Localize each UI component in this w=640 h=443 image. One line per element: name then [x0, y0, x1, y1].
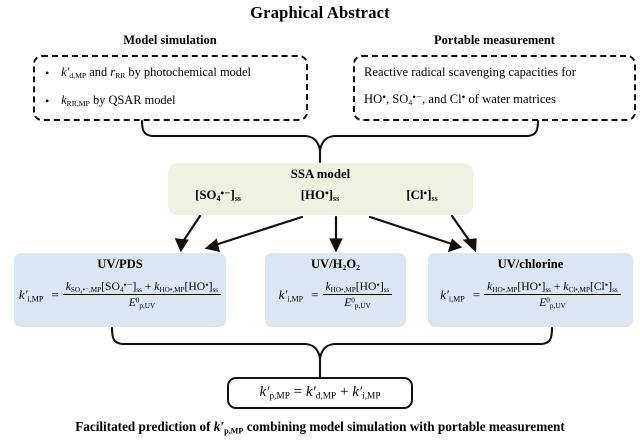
page-title: Graphical Abstract [0, 3, 640, 23]
equals-uv-h2o2: = [311, 287, 318, 303]
bullet-1-mid: and [86, 65, 110, 79]
ssa-so4-formula: SO [199, 188, 216, 202]
portable-line-2: HO•, SO4•−, and Cl• of water matrices [364, 92, 628, 107]
ssa-species-so4: [SO4•−]ss [170, 188, 266, 203]
fraction-uv-chlorine: kHO•,MP[HO•]ss + kCl•,MP[Cl•]ss E0p,UV [484, 280, 621, 309]
portable-line-2-tail: of water matrices [465, 92, 556, 106]
title-mid-h2o2: O [346, 257, 356, 271]
num-st1-cl: ss [545, 286, 551, 294]
so4-label: SO [392, 92, 408, 106]
process-title-uv-pds: UV/PDS [14, 257, 226, 272]
result-sub-d: d,MP [316, 392, 336, 402]
num-plus-cl: + [554, 280, 561, 293]
list-item: • k′d,MP and rRR by photochemical model [45, 65, 251, 81]
ssa-cl-state: ss [431, 194, 437, 203]
formula-uv-pds: k′i,MP = kSO₄•⁻,MP[SO4•−]ss + kHO•,MP[HO… [14, 280, 226, 309]
num-k2-sub-pds: HO•,MP [159, 286, 184, 294]
result-k3: k [352, 384, 359, 400]
ssa-ho-state: ss [333, 194, 339, 203]
den-E-pds: E [129, 296, 136, 309]
numerator-uv-h2o2: kHO•,MP[HO•]ss [323, 280, 393, 294]
denominator-uv-h2o2: E0p,UV [323, 294, 393, 309]
result-sub-p: p,MP [269, 392, 289, 402]
lhs-sub-cl: i,MP [449, 294, 465, 303]
num-sp1-pds: SO [105, 280, 120, 293]
result-equation: k′p,MP = k′d,MP + k′i,MP [229, 384, 411, 401]
numerator-uv-pds: kSO₄•⁻,MP[SO4•−]ss + kHO•,MP[HO•]ss [63, 280, 221, 294]
num-st2-cl: ss [612, 286, 618, 294]
ssa-to-process-arrows [177, 216, 476, 251]
ssa-ho-formula: HO [305, 188, 325, 202]
lhs-uv-h2o2: k′i,MP [279, 287, 304, 303]
bullet-1-tail: by photochemical model [125, 65, 251, 79]
title-pre-h2o2: UV/H [311, 257, 342, 271]
caption-pre: Facilitated prediction of [75, 419, 214, 434]
denominator-uv-chlorine: E0p,UV [484, 294, 621, 309]
ssa-model-box: SSA model [SO4•−]ss [HO•]ss [Cl•]ss [168, 163, 473, 215]
ssa-species-cl: [Cl•]ss [374, 188, 470, 203]
process-box-uv-chlorine: UV/chlorine k′i,MP = kHO•,MP[HO•]ss + kC… [428, 253, 633, 327]
process-title-uv-h2o2: UV/H2O2 [265, 257, 406, 272]
bullet-2-tail: by QSAR model [90, 93, 176, 107]
denominator-uv-pds: E0p,UV [63, 294, 221, 309]
lhs-uv-chlorine: k′i,MP [440, 287, 465, 303]
ssa-so4-state: ss [235, 194, 241, 203]
num-sp2-cl: Cl [594, 280, 605, 293]
so4-radical-charge: •− [412, 92, 422, 104]
model-simulation-box: • k′d,MP and rRR by photochemical model … [33, 55, 308, 121]
caption-post: combining model simulation with portable… [243, 419, 564, 434]
num-plus-pds: + [145, 280, 152, 293]
bottom-caption: Facilitated prediction of k′p,MP combini… [0, 419, 640, 435]
num-st1-pds: ss [136, 286, 142, 294]
list-item: • kRR,MP by QSAR model [45, 93, 176, 109]
ssa-so4-sup: •− [220, 188, 230, 200]
portable-measurement-box: Reactive radical scavenging capacities f… [353, 55, 636, 121]
result-equals: = [294, 384, 302, 400]
cl-label: Cl [450, 92, 462, 106]
num-k2-sub-cl: Cl•,MP [568, 286, 590, 294]
fraction-uv-h2o2: kHO•,MP[HO•]ss E0p,UV [323, 280, 393, 309]
lhs-uv-pds: k′i,MP [19, 287, 44, 303]
process-box-uv-pds: UV/PDS k′i,MP = kSO₄•⁻,MP[SO4•−]ss + kHO… [14, 253, 226, 327]
numerator-uv-chlorine: kHO•,MP[HO•]ss + kCl•,MP[Cl•]ss [484, 280, 621, 294]
lhs-sub-h2o2: i,MP [287, 294, 303, 303]
num-sp1-h2o2: HO [360, 280, 377, 293]
model-simulation-heading: Model simulation [30, 33, 310, 48]
num-k1-sub-h2o2: HO•,MP [331, 286, 356, 294]
caption-sub: p,MP [224, 426, 243, 435]
ho-label: HO [364, 92, 382, 106]
equals-uv-chlorine: = [473, 287, 480, 303]
ssa-model-title: SSA model [168, 167, 473, 182]
result-sub-i: i,MP [362, 392, 380, 402]
result-plus: + [340, 384, 348, 400]
graphical-abstract-canvas: Graphical Abstract Model simulation Port… [0, 0, 640, 443]
formula-uv-h2o2: k′i,MP = kHO•,MP[HO•]ss E0p,UV [265, 280, 406, 309]
num-st2-pds: ss [212, 286, 218, 294]
result-k2: k [306, 384, 313, 400]
num-sp2-pds: HO [188, 280, 205, 293]
num-sp1-cl: HO [521, 280, 538, 293]
bullet-icon: • [45, 66, 58, 81]
upper-brace [142, 121, 538, 162]
formula-uv-chlorine: k′i,MP = kHO•,MP[HO•]ss + kCl•,MP[Cl•]ss… [428, 280, 633, 309]
ssa-cl-formula: Cl [411, 188, 424, 202]
sep-2: , and [422, 92, 450, 106]
process-title-uv-chlorine: UV/chlorine [428, 257, 633, 272]
num-st1-h2o2: ss [384, 286, 390, 294]
num-k1-sub-pds: SO₄•⁻,MP [71, 286, 101, 294]
bullet-1-sub: d,MP [69, 71, 86, 80]
bullet-icon: • [45, 94, 58, 109]
bullet-1-sub2: RR [115, 71, 125, 80]
portable-measurement-heading: Portable measurement [352, 33, 637, 48]
fraction-uv-pds: kSO₄•⁻,MP[SO4•−]ss + kHO•,MP[HO•]ss E0p,… [63, 280, 221, 309]
title-sub2-h2o2: 2 [356, 263, 360, 272]
bullet-2-sub: RR,MP [67, 99, 90, 108]
den-sub-pds: p,UV [139, 302, 155, 310]
den-sub-cl: p,UV [550, 302, 566, 310]
lower-brace [112, 328, 552, 377]
ssa-species-ho: [HO•]ss [272, 188, 368, 203]
lhs-sub-pds: i,MP [28, 294, 44, 303]
den-sub-h2o2: p,UV [355, 302, 371, 310]
process-box-uv-h2o2: UV/H2O2 k′i,MP = kHO•,MP[HO•]ss E0p,UV [265, 253, 406, 327]
portable-line-1: Reactive radical scavenging capacities f… [364, 65, 628, 80]
equals-uv-pds: = [51, 287, 58, 303]
num-k1-sub-cl: HO•,MP [492, 286, 517, 294]
result-equation-box: k′p,MP = k′d,MP + k′i,MP [227, 377, 413, 409]
